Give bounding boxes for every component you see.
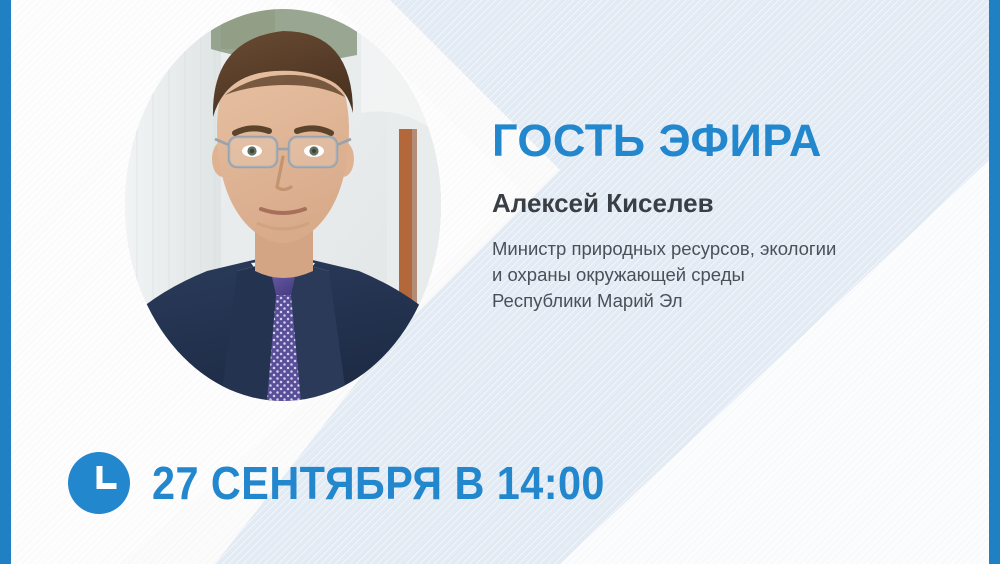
broadcast-datetime-text: 27 СЕНТЯБРЯ В 14:00 xyxy=(152,460,605,506)
guest-role-line-1: Министр природных ресурсов, экологии xyxy=(492,236,962,262)
clock-icon xyxy=(68,452,130,514)
page-title: ГОСТЬ ЭФИРА xyxy=(492,118,962,163)
left-accent-bar xyxy=(0,0,11,564)
guest-info-block: ГОСТЬ ЭФИРА Алексей Киселев Министр прир… xyxy=(492,118,962,314)
guest-portrait-avatar xyxy=(125,9,441,401)
portrait-illustration xyxy=(125,9,441,401)
broadcast-guest-poster: ГОСТЬ ЭФИРА Алексей Киселев Министр прир… xyxy=(0,0,1000,564)
guest-role-line-2: и охраны окружающей среды xyxy=(492,262,962,288)
guest-name: Алексей Киселев xyxy=(492,189,962,218)
guest-role: Министр природных ресурсов, экологии и о… xyxy=(492,236,962,315)
broadcast-datetime-bar: 27 СЕНТЯБРЯ В 14:00 xyxy=(68,452,655,514)
right-accent-bar xyxy=(989,0,1000,564)
guest-role-line-3: Республики Марий Эл xyxy=(492,288,962,314)
